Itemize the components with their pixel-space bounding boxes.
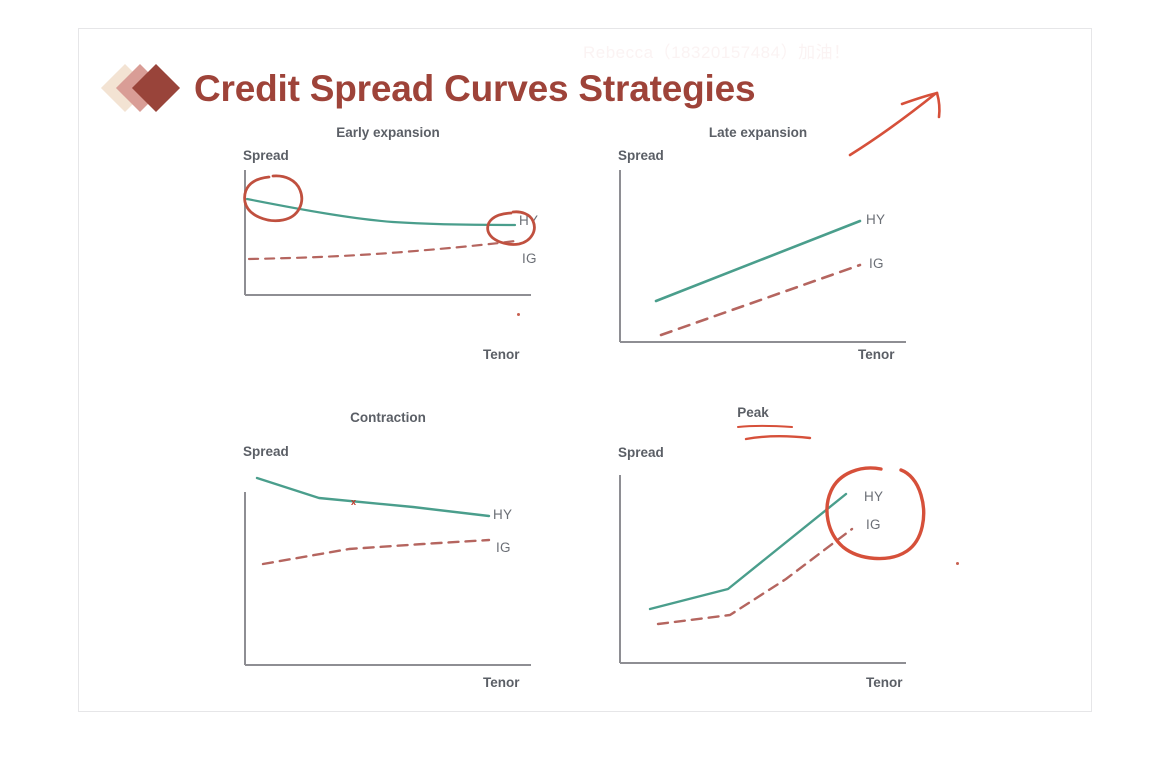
series-label-ig-early-expansion: IG — [522, 251, 537, 266]
series-line-ig — [658, 529, 852, 624]
chart-plot-early-expansion — [243, 170, 533, 340]
annotation-underline-peak — [736, 423, 816, 445]
annotation-x-mark-contraction: x — [351, 498, 356, 507]
series-line-ig — [661, 265, 860, 335]
series-label-hy-peak: HY — [864, 489, 883, 504]
y-axis-label-peak: Spread — [618, 445, 664, 460]
x-axis-label-contraction: Tenor — [483, 675, 520, 690]
x-axis-label-early-expansion: Tenor — [483, 347, 520, 362]
series-line-ig — [263, 540, 489, 564]
chart-plot-contraction — [243, 460, 533, 675]
chart-panel-peak: Peak Spread Tenor HY IG — [618, 405, 928, 690]
chart-panel-contraction: Contraction Spread Tenor HY IG x — [243, 410, 543, 690]
series-label-ig-late-expansion: IG — [869, 256, 884, 271]
slide-card — [78, 28, 1092, 712]
series-label-hy-contraction: HY — [493, 507, 512, 522]
series-label-ig-contraction: IG — [496, 540, 511, 555]
slide-root: Rebecca（18320157484）加油！ Credit Spread Cu… — [0, 0, 1170, 762]
annotation-dot-early-expansion — [517, 313, 520, 316]
chart-title-early-expansion: Early expansion — [283, 125, 493, 140]
series-line-hy — [650, 494, 846, 609]
chart-title-contraction: Contraction — [283, 410, 493, 425]
chart-panel-late-expansion: Late expansion Spread Tenor HY IG — [618, 125, 918, 365]
series-label-ig-peak: IG — [866, 517, 881, 532]
slide-header: Credit Spread Curves Strategies — [108, 58, 755, 118]
chart-title-late-expansion: Late expansion — [653, 125, 863, 140]
series-label-hy-early-expansion: HY — [519, 213, 538, 228]
series-label-hy-late-expansion: HY — [866, 212, 885, 227]
series-line-ig — [249, 241, 515, 259]
y-axis-label-contraction: Spread — [243, 444, 289, 459]
series-line-hy — [257, 478, 489, 516]
chart-plot-late-expansion — [618, 170, 908, 350]
diamond-logo-icon — [108, 63, 180, 113]
series-line-hy — [247, 199, 515, 225]
chart-title-peak: Peak — [703, 405, 803, 420]
page-title: Credit Spread Curves Strategies — [194, 70, 755, 107]
y-axis-label-early-expansion: Spread — [243, 148, 289, 163]
x-axis-label-peak: Tenor — [866, 675, 903, 690]
series-line-hy — [656, 221, 860, 301]
y-axis-label-late-expansion: Spread — [618, 148, 664, 163]
annotation-dot-peak — [956, 562, 959, 565]
chart-panel-early-expansion: Early expansion Spread Tenor HY IG — [243, 125, 543, 365]
